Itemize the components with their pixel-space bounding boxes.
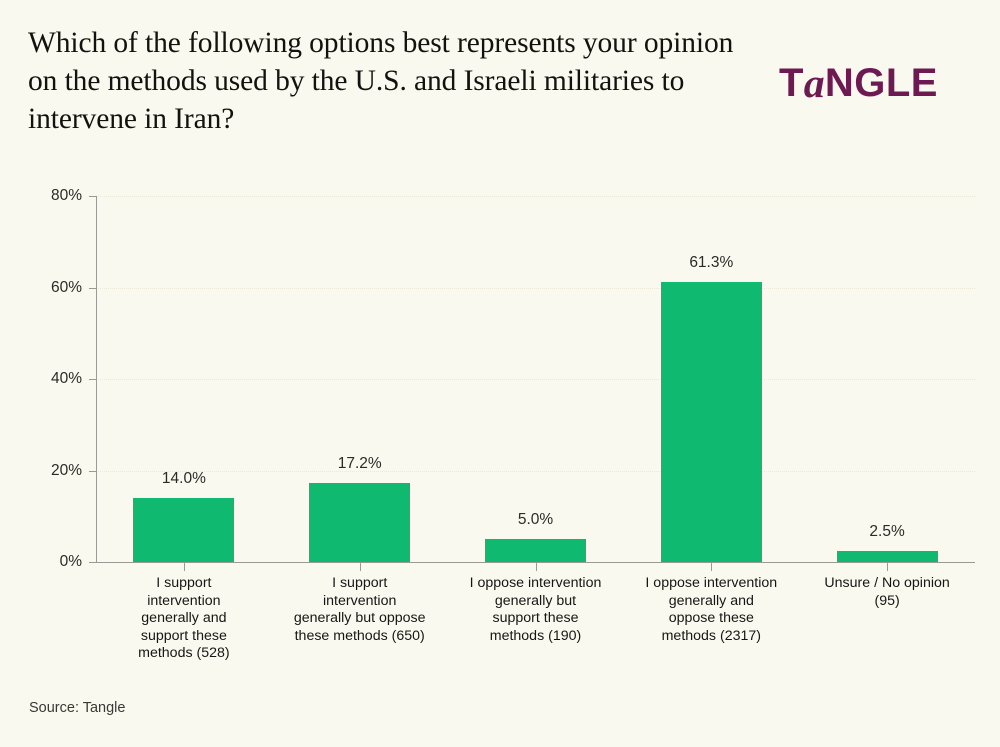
x-axis-category-label: I supportinterventiongenerally andsuppor… [98,575,270,663]
gridline [96,196,975,197]
bar-value-label: 2.5% [817,523,957,541]
bar-value-label: 14.0% [114,470,254,488]
bar-value-label: 61.3% [641,254,781,272]
category-label-line: Unsure / No opinion [801,575,973,593]
category-label-line: support these [98,628,270,646]
gridline [96,379,975,380]
category-label-line: intervention [274,593,446,611]
y-axis-tick [89,562,96,563]
gridline [96,288,975,289]
y-axis-label: 80% [51,187,82,205]
category-label-line: methods (190) [450,628,622,646]
category-label-line: I support [274,575,446,593]
category-label-line: I oppose intervention [450,575,622,593]
x-axis-tick [536,562,537,571]
bar[interactable] [133,498,234,562]
logo-stylized-a: a [804,63,825,104]
x-axis-category-label: I supportinterventiongenerally but oppos… [274,575,446,645]
y-axis-tick [89,288,96,289]
category-label-line: methods (2317) [625,628,797,646]
category-label-line: generally and [625,593,797,611]
x-axis-category-label: I oppose interventiongenerally andoppose… [625,575,797,645]
bar[interactable] [309,483,410,562]
y-axis-tick [89,471,96,472]
bar[interactable] [837,551,938,562]
x-axis-category-label: I oppose interventiongenerally butsuppor… [450,575,622,645]
category-label-line: oppose these [625,610,797,628]
x-axis-tick [887,562,888,571]
category-label-line: intervention [98,593,270,611]
category-label-line: I oppose intervention [625,575,797,593]
y-axis-label: 60% [51,279,82,297]
bar[interactable] [661,282,762,562]
x-axis-tick [184,562,185,571]
y-axis-tick [89,379,96,380]
y-axis-label: 20% [51,462,82,480]
bar-value-label: 17.2% [290,455,430,473]
chart-header: Which of the following options best repr… [0,0,1000,165]
category-label-line: methods (528) [98,645,270,663]
logo-text-part-2: NGLE [825,63,938,103]
page-title: Which of the following options best repr… [28,24,748,138]
bar[interactable] [485,539,586,562]
y-axis-tick [89,196,96,197]
category-label-line: I support [98,575,270,593]
y-axis-line [96,196,97,562]
category-label-line: generally and [98,610,270,628]
y-axis-label: 40% [51,370,82,388]
category-label-line: these methods (650) [274,628,446,646]
source-note: Source: Tangle [29,700,125,716]
category-label-line: (95) [801,593,973,611]
category-label-line: support these [450,610,622,628]
category-label-line: generally but [450,593,622,611]
x-axis-tick [711,562,712,571]
bar-chart: 0%20%40%60%80% 14.0%17.2%5.0%61.3%2.5% I… [0,165,1000,685]
x-axis-tick [360,562,361,571]
logo-text-part-1: T [779,63,804,103]
x-axis-category-label: Unsure / No opinion(95) [801,575,973,610]
chart-page: Which of the following options best repr… [0,0,1000,747]
tangle-logo: TaNGLE [779,62,938,103]
y-axis-label: 0% [60,553,82,571]
category-label-line: generally but oppose [274,610,446,628]
bar-value-label: 5.0% [466,511,606,529]
